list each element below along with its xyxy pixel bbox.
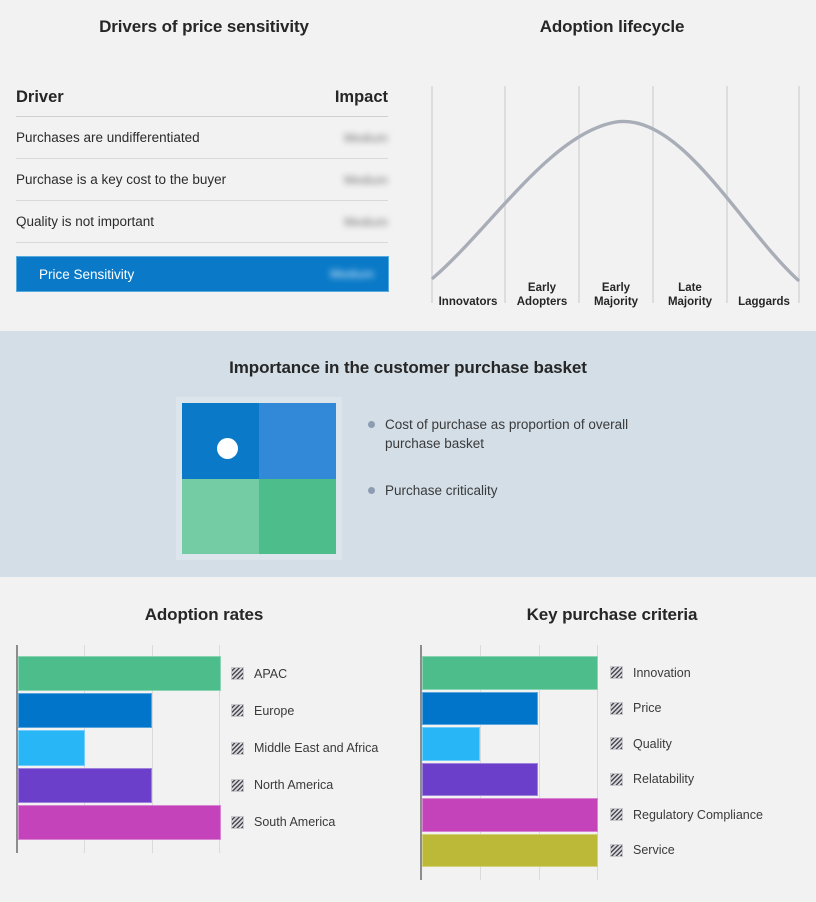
legend-item-price[interactable]: Price	[610, 691, 812, 727]
adoption-rates-chart: APAC Europe Middle East and Africa North…	[16, 645, 396, 853]
adoption-rates-title: Adoption rates	[0, 605, 408, 625]
bar	[18, 693, 152, 728]
adoption-rates-bars	[18, 655, 221, 841]
adoption-lifecycle-panel: Adoption lifecycle Innovators	[408, 0, 816, 331]
key-purchase-criteria-panel: Key purchase criteria	[408, 577, 816, 902]
impact-value-redacted: Medium	[344, 215, 388, 229]
hatched-swatch-icon	[610, 737, 623, 750]
bar-row-north-america[interactable]	[18, 767, 221, 804]
lifecycle-label-early-adopters: Early Adopters	[505, 281, 579, 311]
legend-label: Cost of purchase as proportion of overal…	[385, 415, 635, 453]
hatched-swatch-icon	[610, 808, 623, 821]
key-purchase-criteria-plot	[420, 645, 598, 880]
legend-item-purchase-criticality: Purchase criticality	[368, 481, 668, 500]
lifecycle-title: Adoption lifecycle	[408, 17, 816, 37]
bar-row-middle-east-and-africa[interactable]	[18, 729, 221, 766]
legend-item-cost-of-purchase: Cost of purchase as proportion of overal…	[368, 415, 668, 453]
matrix-quadrant-bottom-left[interactable]	[182, 479, 259, 555]
hatched-swatch-icon	[231, 779, 244, 792]
matrix-quadrant-bottom-right[interactable]	[259, 479, 336, 555]
lifecycle-curve-svg	[431, 78, 801, 311]
hatched-swatch-icon	[610, 773, 623, 786]
bar	[18, 730, 85, 765]
driver-name: Purchases are undifferentiated	[16, 130, 200, 145]
hatched-swatch-icon	[610, 844, 623, 857]
legend-item-relatability[interactable]: Relatability	[610, 762, 812, 798]
bar	[18, 656, 221, 691]
adoption-curve	[433, 121, 798, 280]
adoption-rates-plot	[16, 645, 221, 853]
table-row[interactable]: Purchases are undifferentiated Medium	[16, 117, 388, 159]
bar-row-innovation[interactable]	[422, 655, 598, 691]
legend-item-europe[interactable]: Europe	[231, 692, 396, 729]
summary-label: Price Sensitivity	[39, 267, 134, 282]
legend-item-apac[interactable]: APAC	[231, 655, 396, 692]
lifecycle-axis-labels: Innovators Early Adopters Early Majority…	[431, 281, 801, 311]
price-sensitivity-summary-row[interactable]: Price Sensitivity Medium	[16, 256, 389, 292]
bar-row-apac[interactable]	[18, 655, 221, 692]
column-header-driver: Driver	[16, 88, 64, 107]
legend-label: Purchase criticality	[385, 481, 498, 500]
lifecycle-label-late-majority: Late Majority	[653, 281, 727, 311]
bar	[18, 768, 152, 803]
key-purchase-criteria-legend: Innovation Price Quality Relatability Re…	[598, 645, 812, 880]
adoption-rates-legend: APAC Europe Middle East and Africa North…	[221, 645, 396, 853]
bullet-icon	[368, 487, 375, 494]
drivers-table: Driver Impact Purchases are undifferenti…	[16, 88, 388, 292]
drivers-panel: Drivers of price sensitivity Driver Impa…	[0, 0, 408, 331]
hatched-swatch-icon	[231, 742, 244, 755]
key-purchase-criteria-title: Key purchase criteria	[408, 605, 816, 625]
drivers-title: Drivers of price sensitivity	[0, 17, 408, 37]
legend-item-regulatory-compliance[interactable]: Regulatory Compliance	[610, 797, 812, 833]
legend-item-quality[interactable]: Quality	[610, 726, 812, 762]
lifecycle-label-early-majority: Early Majority	[579, 281, 653, 311]
basket-matrix[interactable]	[182, 403, 336, 554]
basket-title: Importance in the customer purchase bask…	[0, 358, 816, 378]
basket-legend: Cost of purchase as proportion of overal…	[368, 415, 668, 528]
bar	[422, 798, 598, 832]
legend-item-north-america[interactable]: North America	[231, 767, 396, 804]
bar-row-south-america[interactable]	[18, 804, 221, 841]
impact-value-redacted: Medium	[344, 131, 388, 145]
bar-row-europe[interactable]	[18, 692, 221, 729]
purchase-basket-panel: Importance in the customer purchase bask…	[0, 331, 816, 577]
bar-row-price[interactable]	[422, 691, 598, 727]
bar-row-relatability[interactable]	[422, 762, 598, 798]
key-purchase-criteria-bars	[422, 655, 598, 868]
hatched-swatch-icon	[610, 666, 623, 679]
hatched-swatch-icon	[231, 816, 244, 829]
hatched-swatch-icon	[231, 667, 244, 680]
matrix-quadrant-top-right[interactable]	[259, 403, 336, 479]
legend-item-innovation[interactable]: Innovation	[610, 655, 812, 691]
hatched-swatch-icon	[231, 704, 244, 717]
driver-name: Purchase is a key cost to the buyer	[16, 172, 226, 187]
lifecycle-chart: Innovators Early Adopters Early Majority…	[431, 78, 801, 311]
adoption-rates-panel: Adoption rates	[0, 577, 408, 902]
legend-item-middle-east-and-africa[interactable]: Middle East and Africa	[231, 729, 396, 766]
table-row[interactable]: Quality is not important Medium	[16, 201, 388, 243]
legend-item-south-america[interactable]: South America	[231, 804, 396, 841]
impact-value-redacted: Medium	[344, 173, 388, 187]
summary-impact-redacted: Medium	[330, 267, 374, 281]
dashboard-page: Drivers of price sensitivity Driver Impa…	[0, 0, 816, 902]
legend-item-service[interactable]: Service	[610, 833, 812, 869]
bar	[422, 692, 538, 726]
bar	[422, 834, 598, 868]
bar-row-regulatory-compliance[interactable]	[422, 797, 598, 833]
drivers-table-header: Driver Impact	[16, 88, 388, 117]
matrix-position-marker	[217, 438, 238, 459]
driver-name: Quality is not important	[16, 214, 154, 229]
key-purchase-criteria-chart: Innovation Price Quality Relatability Re…	[420, 645, 812, 880]
lifecycle-gridlines	[432, 86, 799, 303]
basket-matrix-container	[176, 397, 342, 560]
lifecycle-label-laggards: Laggards	[727, 281, 801, 311]
bar	[422, 656, 598, 690]
bar-row-quality[interactable]	[422, 726, 598, 762]
bar	[422, 727, 480, 761]
bar	[18, 805, 221, 840]
column-header-impact: Impact	[335, 88, 388, 107]
bullet-icon	[368, 421, 375, 428]
lifecycle-label-innovators: Innovators	[431, 281, 505, 311]
table-row[interactable]: Purchase is a key cost to the buyer Medi…	[16, 159, 388, 201]
bar-row-service[interactable]	[422, 833, 598, 869]
hatched-swatch-icon	[610, 702, 623, 715]
bar	[422, 763, 538, 797]
